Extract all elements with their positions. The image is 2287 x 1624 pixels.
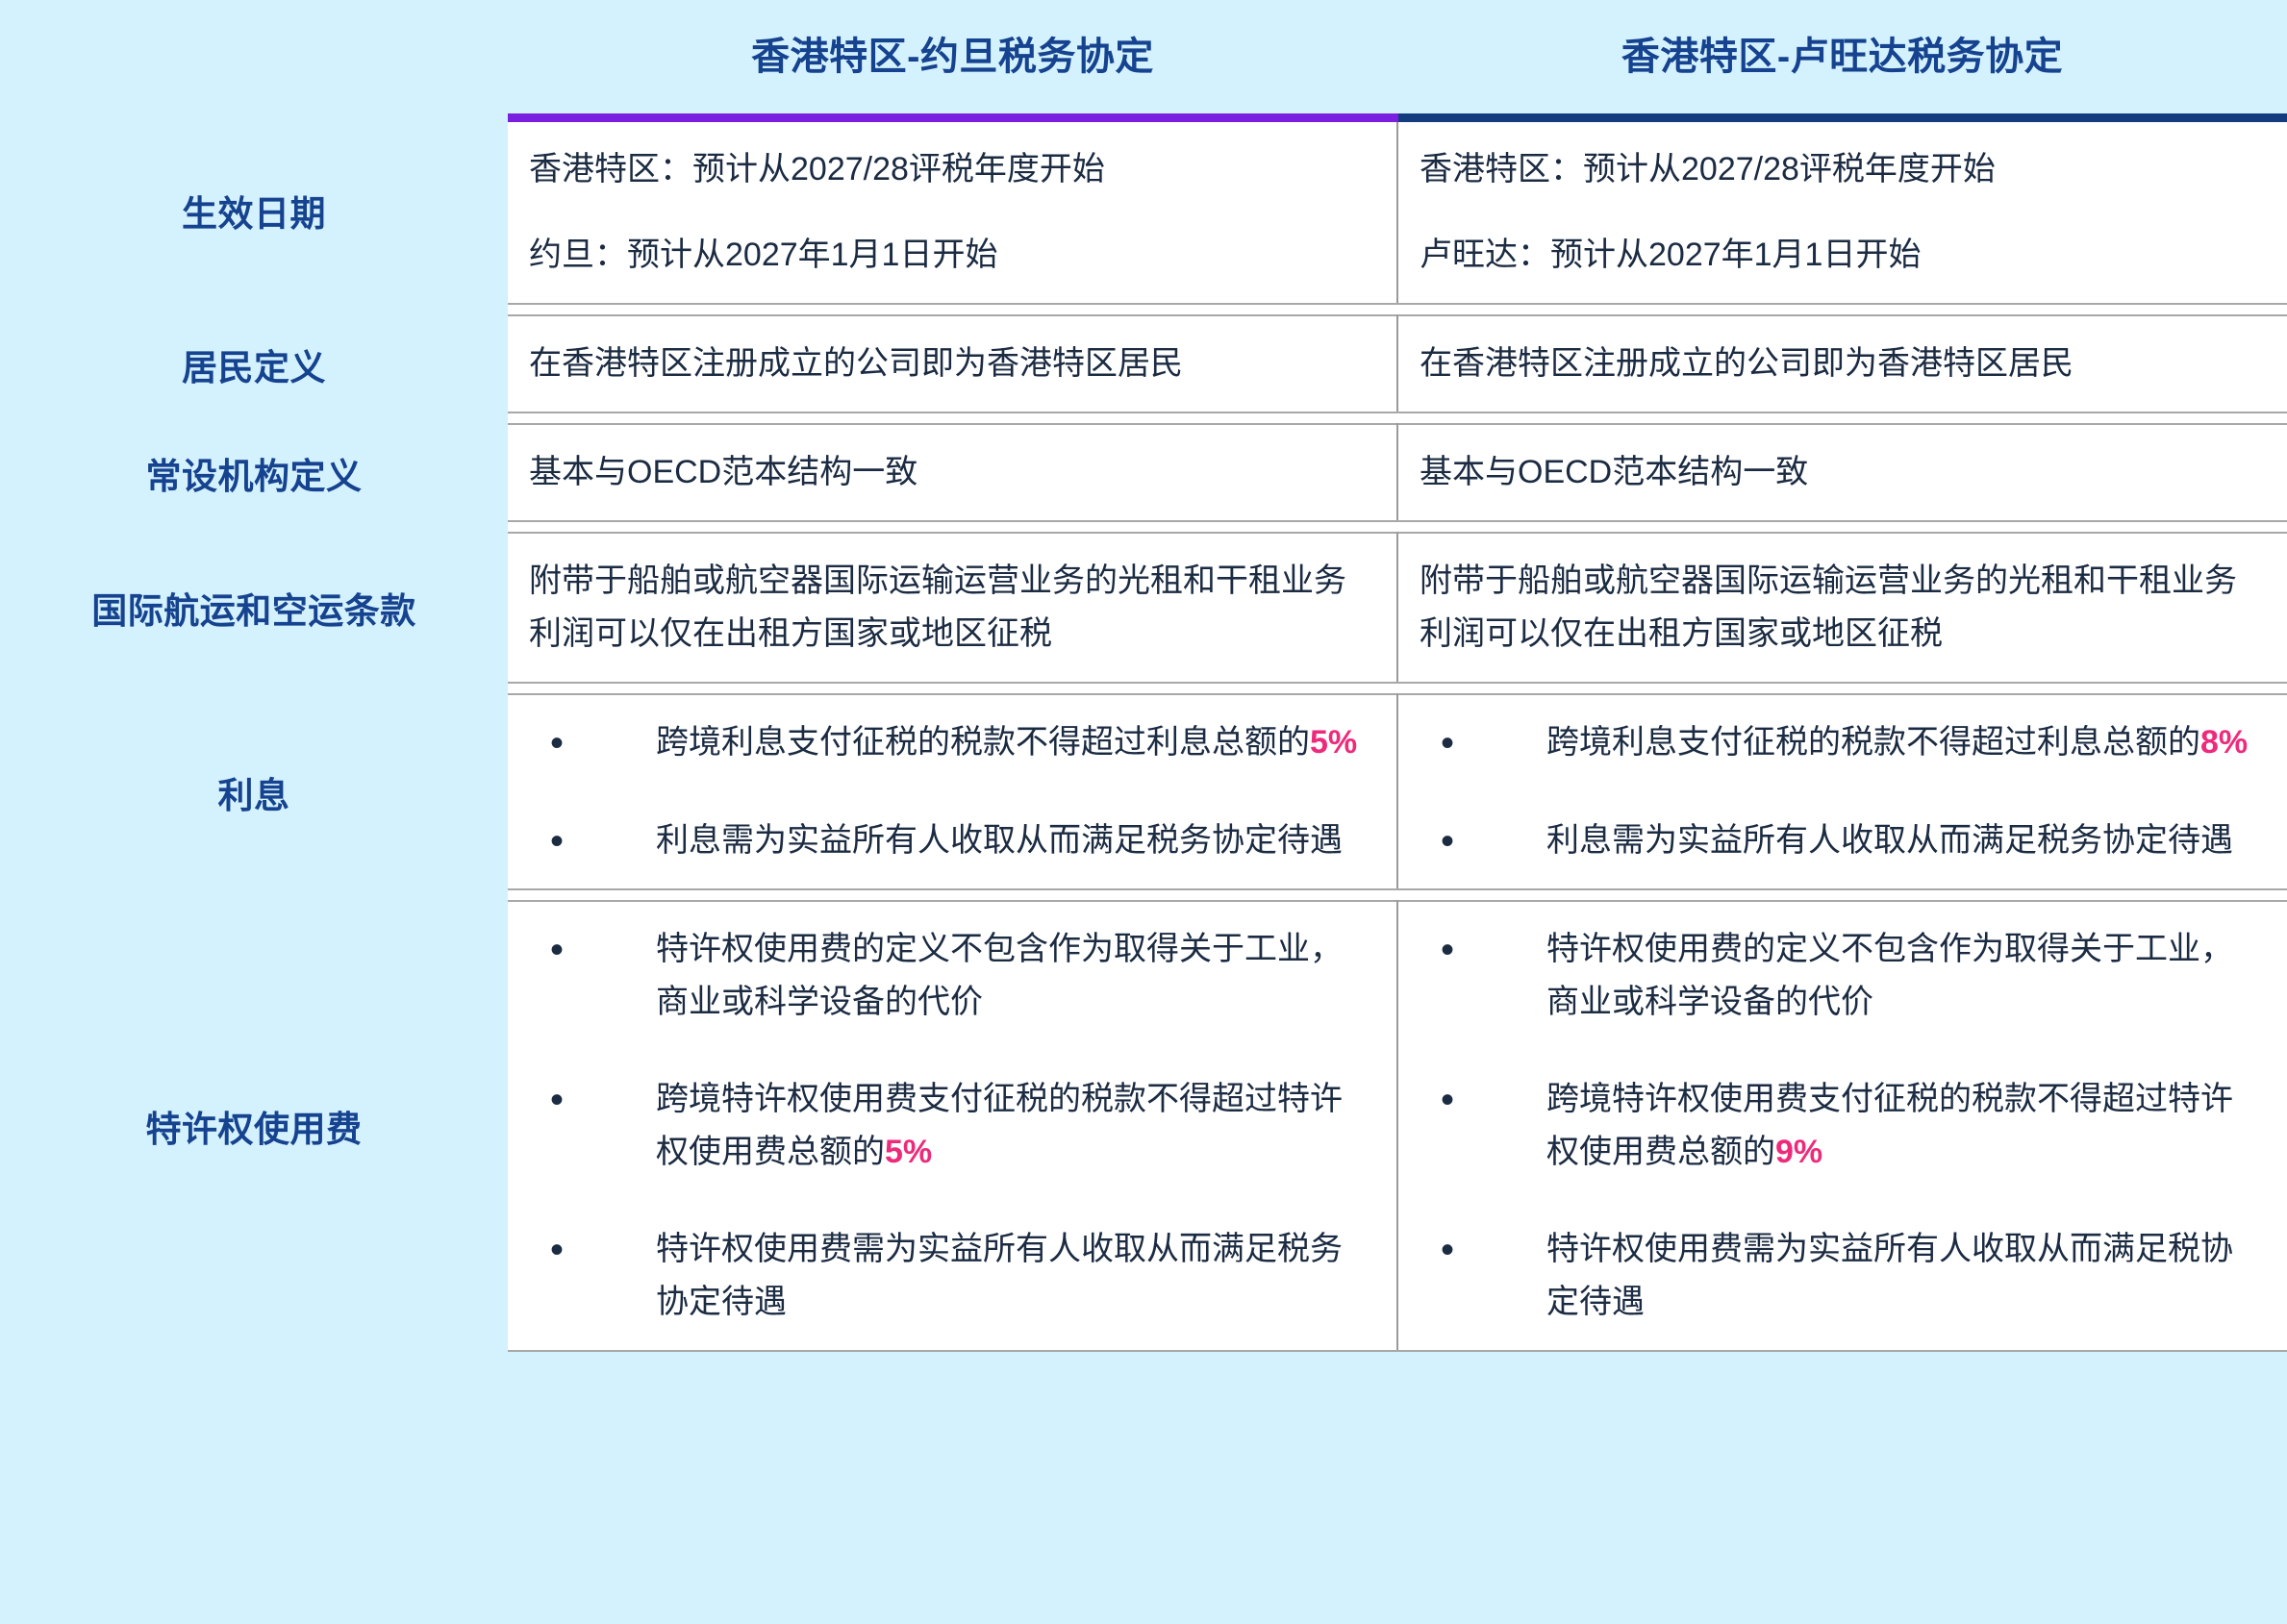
- table-cell-col2: 附带于船舶或航空器国际运输运营业务的光租和干租业务利润可以仅在出租方国家或地区征…: [1397, 533, 2287, 683]
- table-cell-col1: 在香港特区注册成立的公司即为香港特区居民: [508, 315, 1397, 412]
- row-gap: [0, 304, 2287, 315]
- bullet-item: 跨境利息支付征税的税款不得超过利息总额的8%: [1420, 716, 2260, 769]
- bullet-item: 跨境利息支付征税的税款不得超过利息总额的5%: [529, 716, 1370, 769]
- header-cell-col1: 香港特区-约旦税务协定: [508, 0, 1397, 113]
- row-gap-col2: [1397, 521, 2287, 533]
- rate-highlight: 5%: [1310, 724, 1357, 761]
- cell-paragraph: 基本与OECD范本结构一致: [529, 446, 1370, 499]
- row-label: 特许权使用费: [0, 901, 508, 1351]
- bullet-text: 利息需为实益所有人收取从而满足税务协定待遇: [656, 822, 1343, 859]
- bullet-text: 特许权使用费的定义不包含作为取得关于工业，商业或科学设备的代价: [1546, 931, 2233, 1020]
- row-label: 生效日期: [0, 118, 508, 305]
- rate-highlight: 5%: [885, 1134, 932, 1170]
- table-cell-col2: 特许权使用费的定义不包含作为取得关于工业，商业或科学设备的代价跨境特许权使用费支…: [1397, 901, 2287, 1351]
- row-gap-col1: [508, 304, 1397, 315]
- cell-paragraph: 香港特区：预计从2027/28评税年度开始: [1420, 143, 2260, 196]
- table-cell-col1: 特许权使用费的定义不包含作为取得关于工业，商业或科学设备的代价跨境特许权使用费支…: [508, 901, 1397, 1351]
- row-gap-col1: [508, 683, 1397, 694]
- table-cell-col2: 在香港特区注册成立的公司即为香港特区居民: [1397, 315, 2287, 412]
- cell-paragraph: 在香港特区注册成立的公司即为香港特区居民: [1420, 337, 2260, 390]
- treaty-comparison-table: 生效日期香港特区：预计从2027/28评税年度开始约旦：预计从2027年1月1日…: [0, 113, 2287, 1352]
- bullet-text: 特许权使用费需为实益所有人收取从而满足税协定待遇: [1546, 1231, 2233, 1320]
- table-cell-col2: 跨境利息支付征税的税款不得超过利息总额的8%利息需为实益所有人收取从而满足税务协…: [1397, 694, 2287, 888]
- bullet-text: 跨境利息支付征税的税款不得超过利息总额的: [1546, 724, 2200, 761]
- cell-paragraph: 附带于船舶或航空器国际运输运营业务的光租和干租业务利润可以仅在出租方国家或地区征…: [1420, 555, 2260, 661]
- row-gap-col1: [508, 412, 1397, 424]
- row-gap: [0, 889, 2287, 901]
- row-gap: [0, 521, 2287, 533]
- column-title-jordan: 香港特区-约旦税务协定: [751, 25, 1154, 81]
- row-label: 国际航运和空运条款: [0, 533, 508, 683]
- cell-paragraph: 香港特区：预计从2027/28评税年度开始: [529, 143, 1370, 196]
- row-gap-label-cell: [0, 889, 508, 901]
- rate-highlight: 8%: [2200, 724, 2248, 761]
- bullet-list: 跨境利息支付征税的税款不得超过利息总额的8%利息需为实益所有人收取从而满足税务协…: [1420, 716, 2260, 866]
- row-gap-label-cell: [0, 412, 508, 424]
- table-row: 国际航运和空运条款附带于船舶或航空器国际运输运营业务的光租和干租业务利润可以仅在…: [0, 533, 2287, 683]
- cell-paragraph: 卢旺达：预计从2027年1月1日开始: [1420, 229, 2260, 282]
- row-gap-col2: [1397, 683, 2287, 694]
- row-label: 居民定义: [0, 315, 508, 412]
- cell-paragraph: 附带于船舶或航空器国际运输运营业务的光租和干租业务利润可以仅在出租方国家或地区征…: [529, 555, 1370, 661]
- row-gap-label-cell: [0, 683, 508, 694]
- column-title-rwanda: 香港特区-卢旺达税务协定: [1621, 25, 2063, 81]
- bullet-text: 特许权使用费需为实益所有人收取从而满足税务协定待遇: [656, 1231, 1343, 1320]
- bullet-item: 利息需为实益所有人收取从而满足税务协定待遇: [529, 814, 1370, 867]
- bullet-list: 特许权使用费的定义不包含作为取得关于工业，商业或科学设备的代价跨境特许权使用费支…: [529, 923, 1370, 1329]
- row-gap-col1: [508, 889, 1397, 901]
- cell-paragraph: 约旦：预计从2027年1月1日开始: [529, 229, 1370, 282]
- table-cell-col2: 基本与OECD范本结构一致: [1397, 424, 2287, 521]
- bullet-item: 特许权使用费需为实益所有人收取从而满足税协定待遇: [1420, 1223, 2260, 1329]
- table-row: 生效日期香港特区：预计从2027/28评税年度开始约旦：预计从2027年1月1日…: [0, 118, 2287, 305]
- table-row: 特许权使用费特许权使用费的定义不包含作为取得关于工业，商业或科学设备的代价跨境特…: [0, 901, 2287, 1351]
- row-label: 常设机构定义: [0, 424, 508, 521]
- bullet-item: 跨境特许权使用费支付征税的税款不得超过特许权使用费总额的5%: [529, 1073, 1370, 1179]
- header-corner-spacer: [0, 0, 508, 113]
- table-cell-col1: 香港特区：预计从2027/28评税年度开始约旦：预计从2027年1月1日开始: [508, 118, 1397, 305]
- table-cell-col1: 附带于船舶或航空器国际运输运营业务的光租和干租业务利润可以仅在出租方国家或地区征…: [508, 533, 1397, 683]
- row-gap-col2: [1397, 412, 2287, 424]
- table-cell-col1: 跨境利息支付征税的税款不得超过利息总额的5%利息需为实益所有人收取从而满足税务协…: [508, 694, 1397, 888]
- row-gap: [0, 412, 2287, 424]
- row-label: 利息: [0, 694, 508, 888]
- table-cell-col1: 基本与OECD范本结构一致: [508, 424, 1397, 521]
- table-row: 常设机构定义基本与OECD范本结构一致基本与OECD范本结构一致: [0, 424, 2287, 521]
- table-header-row: 香港特区-约旦税务协定 香港特区-卢旺达税务协定: [0, 0, 2287, 113]
- row-gap-col2: [1397, 889, 2287, 901]
- table-cell-col2: 香港特区：预计从2027/28评税年度开始卢旺达：预计从2027年1月1日开始: [1397, 118, 2287, 305]
- cell-paragraph: 基本与OECD范本结构一致: [1420, 446, 2260, 499]
- bullet-text: 特许权使用费的定义不包含作为取得关于工业，商业或科学设备的代价: [656, 931, 1343, 1020]
- cell-paragraph: 在香港特区注册成立的公司即为香港特区居民: [529, 337, 1370, 390]
- row-gap-label-cell: [0, 304, 508, 315]
- rate-highlight: 9%: [1775, 1134, 1822, 1170]
- bullet-text: 跨境利息支付征税的税款不得超过利息总额的: [656, 724, 1310, 761]
- row-gap-col2: [1397, 304, 2287, 315]
- bullet-text: 利息需为实益所有人收取从而满足税务协定待遇: [1546, 822, 2233, 859]
- table-row: 利息跨境利息支付征税的税款不得超过利息总额的5%利息需为实益所有人收取从而满足税…: [0, 694, 2287, 888]
- bullet-item: 跨境特许权使用费支付征税的税款不得超过特许权使用费总额的9%: [1420, 1073, 2260, 1179]
- bullet-text: 跨境特许权使用费支付征税的税款不得超过特许权使用费总额的: [656, 1081, 1343, 1170]
- bullet-item: 特许权使用费的定义不包含作为取得关于工业，商业或科学设备的代价: [1420, 923, 2260, 1029]
- table-row: 居民定义在香港特区注册成立的公司即为香港特区居民在香港特区注册成立的公司即为香港…: [0, 315, 2287, 412]
- bullet-item: 特许权使用费的定义不包含作为取得关于工业，商业或科学设备的代价: [529, 923, 1370, 1029]
- bullet-item: 特许权使用费需为实益所有人收取从而满足税务协定待遇: [529, 1223, 1370, 1329]
- row-gap-col1: [508, 521, 1397, 533]
- bullet-list: 特许权使用费的定义不包含作为取得关于工业，商业或科学设备的代价跨境特许权使用费支…: [1420, 923, 2260, 1329]
- row-gap: [0, 683, 2287, 694]
- bullet-list: 跨境利息支付征税的税款不得超过利息总额的5%利息需为实益所有人收取从而满足税务协…: [529, 716, 1370, 866]
- comparison-table-page: 香港特区-约旦税务协定 香港特区-卢旺达税务协定 生效日期香港特区：预计从202…: [0, 0, 2287, 1624]
- row-gap-label-cell: [0, 521, 508, 533]
- bullet-item: 利息需为实益所有人收取从而满足税务协定待遇: [1420, 814, 2260, 867]
- header-cell-col2: 香港特区-卢旺达税务协定: [1397, 0, 2287, 113]
- bullet-text: 跨境特许权使用费支付征税的税款不得超过特许权使用费总额的: [1546, 1081, 2233, 1170]
